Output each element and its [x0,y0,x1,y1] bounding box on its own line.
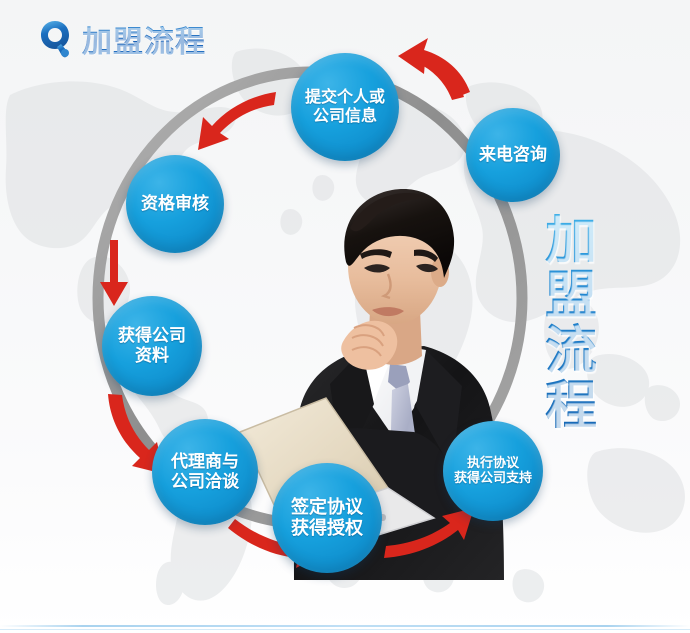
flow-node-5[interactable]: 代理商与公司洽谈 [152,419,258,525]
arrow-3 [100,240,128,306]
flow-node-label: 签定协议获得授权 [291,497,363,539]
flow-node-label-line: 签定协议 [291,497,363,518]
arrow-6 [384,508,474,558]
flow-node-label-line: 公司洽谈 [171,472,239,492]
search-magnifier-icon [40,20,74,58]
flow-node-label-line: 来电咨询 [479,145,547,165]
arrow-2 [198,92,276,150]
flow-node-6[interactable]: 签定协议获得授权 [272,463,382,573]
flow-node-label-line: 代理商与 [171,452,239,472]
flow-node-label-line: 获得公司支持 [454,471,532,486]
flow-node-label: 获得公司资料 [118,326,186,366]
flow-node-label-line: 资格审核 [141,194,209,214]
arrow-1 [398,38,470,100]
flow-node-label: 执行协议获得公司支持 [454,456,532,487]
flow-node-label: 资格审核 [141,194,209,214]
side-title-char-2: 盟 [536,269,606,324]
flow-node-label-line: 获得公司 [118,326,186,346]
flow-node-label-line: 提交个人或 [305,88,385,107]
flow-node-label: 来电咨询 [479,145,547,165]
flow-node-label-line: 资料 [118,346,186,366]
flow-node-1[interactable]: 来电咨询 [466,108,560,202]
flow-node-label: 代理商与公司洽谈 [171,452,239,492]
bottom-divider-faint [0,629,690,630]
page-header: 加盟流程 [40,17,206,61]
flow-node-2[interactable]: 提交个人或公司信息 [291,53,399,161]
flow-node-label-line: 获得授权 [291,518,363,539]
flow-node-3[interactable]: 资格审核 [126,155,224,253]
side-vertical-title: 加 盟 流 程 [536,214,606,434]
side-title-char-4: 程 [536,379,606,434]
infographic-canvas: 加盟流程 加 盟 流 程 来电咨询提交个人或公司信息资格审核获得公司资料代理商与… [0,0,690,633]
bottom-divider [0,625,690,627]
side-title-char-3: 流 [536,324,606,379]
flow-node-label-line: 公司信息 [305,107,385,126]
side-title-char-1: 加 [536,214,606,269]
flow-node-label-line: 执行协议 [454,456,532,471]
page-title: 加盟流程 [82,17,206,61]
flow-node-4[interactable]: 获得公司资料 [102,296,202,396]
flow-node-label: 提交个人或公司信息 [305,88,385,126]
flow-node-7[interactable]: 执行协议获得公司支持 [443,421,543,521]
